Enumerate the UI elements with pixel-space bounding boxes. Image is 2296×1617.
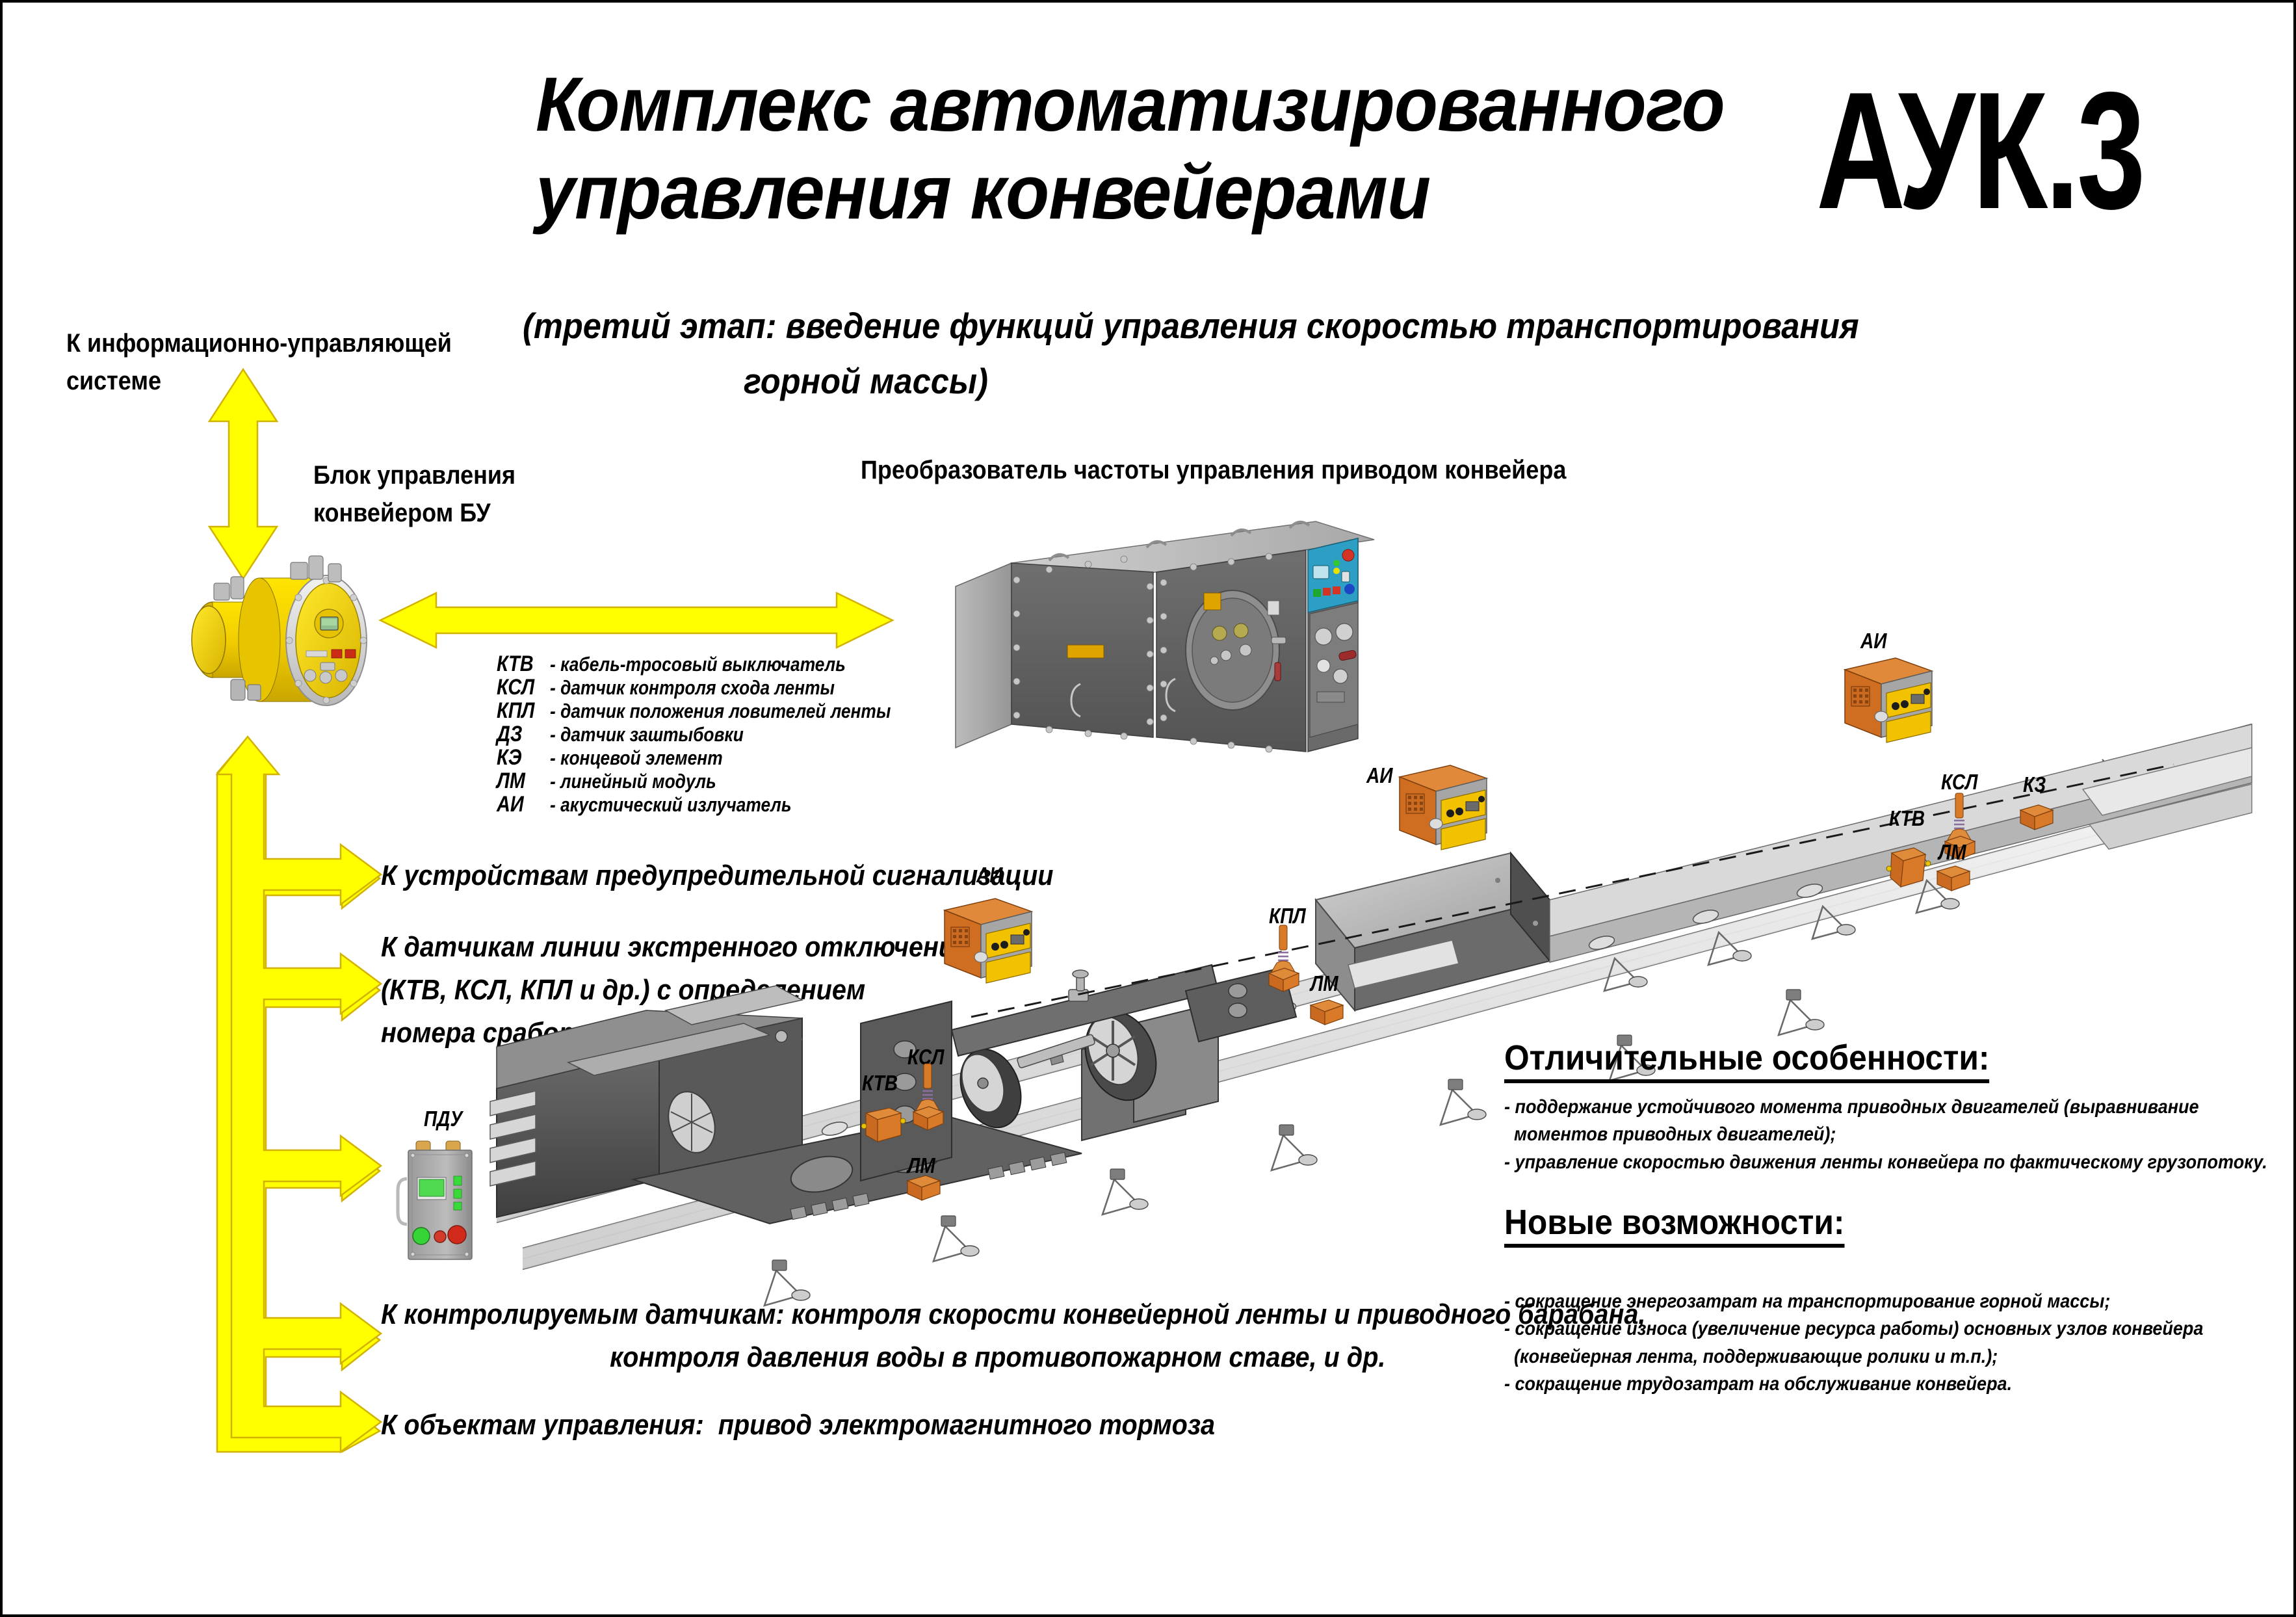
arrow-bidirectional-vertical <box>204 367 282 581</box>
label-control-unit: Блок управления конвейером БУ <box>313 456 571 532</box>
new-cap-item: - сокращение трудозатрат на обслуживание… <box>1504 1371 2203 1399</box>
subtitle-line1: (третий этап: введение функций управлени… <box>523 302 1599 350</box>
label-freq-converter: Преобразователь частоты управления приво… <box>861 451 1504 489</box>
lm-module-mid <box>1308 996 1347 1029</box>
tag-ai-mid: АИ <box>1366 765 1392 786</box>
features-heading: Отличительные особенности: <box>1504 1040 1989 1083</box>
new-cap-item: - сокращение износа (увеличение ресурса … <box>1504 1315 2203 1343</box>
legend-value: - кабель-тросовый выключатель <box>550 654 846 674</box>
legend-key: КТВ <box>497 653 542 675</box>
ktv-device-right <box>1886 841 1932 893</box>
new-cap-item: (конвейерная лента, поддерживающие ролик… <box>1504 1343 2203 1371</box>
acoustic-signal-dashed-line <box>965 757 2213 1030</box>
legend-row: КТВ- кабель-тросовый выключатель <box>497 653 952 676</box>
tag-ai-right: АИ <box>1860 630 1886 651</box>
lm-module-right <box>1935 862 1974 895</box>
pdu-device <box>393 1137 490 1267</box>
lm-module-left <box>905 1172 944 1204</box>
tag-ktv-right: КТВ <box>1889 808 1925 829</box>
tag-ai-left: АИ <box>976 864 1002 886</box>
features-items: - поддержание устойчивого момента привод… <box>1504 1094 2296 1177</box>
feature-item: - управление скоростью движения ленты ко… <box>1504 1149 2267 1177</box>
brand-title: АУК.3 <box>1816 68 2143 235</box>
control-unit-bu-device <box>168 552 402 728</box>
feature-item: моментов приводных двигателей); <box>1504 1121 2267 1149</box>
tag-pdu: ПДУ <box>424 1108 462 1129</box>
new-caps-items: - сокращение энергозатрат на транспортир… <box>1504 1288 2281 1399</box>
ktv-device-left <box>861 1101 906 1147</box>
features-block: Отличительные особенности: - поддержание… <box>1504 1040 2296 1176</box>
tag-ktv-left: КТВ <box>862 1072 898 1094</box>
arrow-bidirectional-horizontal <box>376 588 896 653</box>
page-title-line2: управления конвейерами <box>536 152 1805 233</box>
ai-device-mid <box>1390 760 1494 854</box>
new-cap-item: - сокращение энергозатрат на транспортир… <box>1504 1288 2203 1316</box>
branch-label-5: К объектам управления: привод электромаг… <box>381 1404 1141 1447</box>
ai-device-left <box>935 893 1039 988</box>
tag-kz-right: КЗ <box>2023 774 2046 795</box>
page-title-line1: Комплекс автоматизированного <box>536 64 1805 146</box>
kz-element-right <box>2018 801 2057 834</box>
feature-item: - поддержание устойчивого момента привод… <box>1504 1094 2267 1122</box>
kpl-sensor-mid <box>1265 923 1304 994</box>
tag-ksl-right: КСЛ <box>1941 771 1977 793</box>
tag-lm-right: ЛМ <box>1938 841 1966 863</box>
poster-canvas: Комплекс автоматизированного управления … <box>0 0 2296 1617</box>
new-caps-block: Новые возможности: - сокращение энергоза… <box>1504 1204 2281 1399</box>
tag-lm-mid: ЛМ <box>1311 973 1338 994</box>
new-caps-heading: Новые возможности: <box>1504 1204 1844 1248</box>
ai-device-right <box>1836 653 1940 747</box>
ksl-sensor-left <box>909 1061 948 1133</box>
subtitle-line2: горной массы) <box>744 357 1461 405</box>
